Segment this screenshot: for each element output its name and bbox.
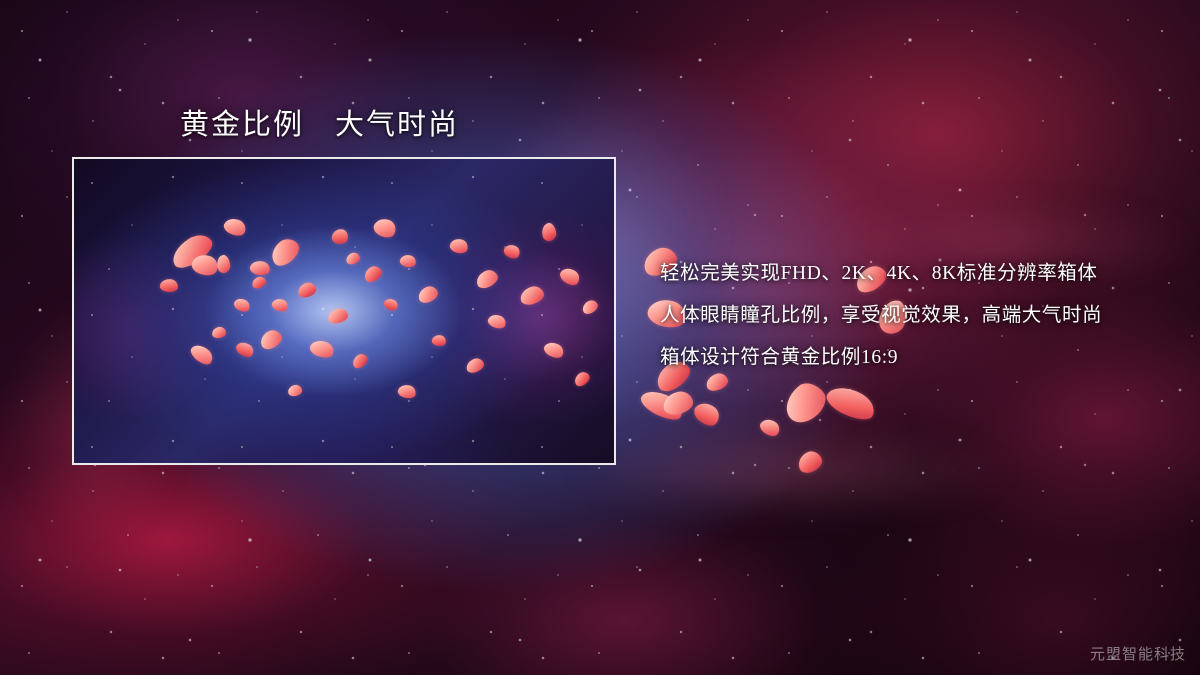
description-text: 轻松完美实现FHD、2K、4K、8K标准分辨率箱体 人体眼睛瞳孔比例，享受视觉效… (660, 253, 1160, 379)
framed-image (72, 157, 616, 465)
slide-canvas: 黄金比例 大气时尚 轻松完美实现FHD、2K、4K、8K标准分辨率箱体 人体眼睛… (0, 0, 1200, 675)
description-line: 人体眼睛瞳孔比例，享受视觉效果，高端大气时尚 (660, 295, 1160, 337)
page-title: 黄金比例 大气时尚 (180, 101, 459, 143)
watermark: 元盟智能科技 (1090, 643, 1186, 664)
description-line: 轻松完美实现FHD、2K、4K、8K标准分辨率箱体 (660, 253, 1160, 295)
description-line: 箱体设计符合黄金比例16:9 (660, 337, 1160, 379)
